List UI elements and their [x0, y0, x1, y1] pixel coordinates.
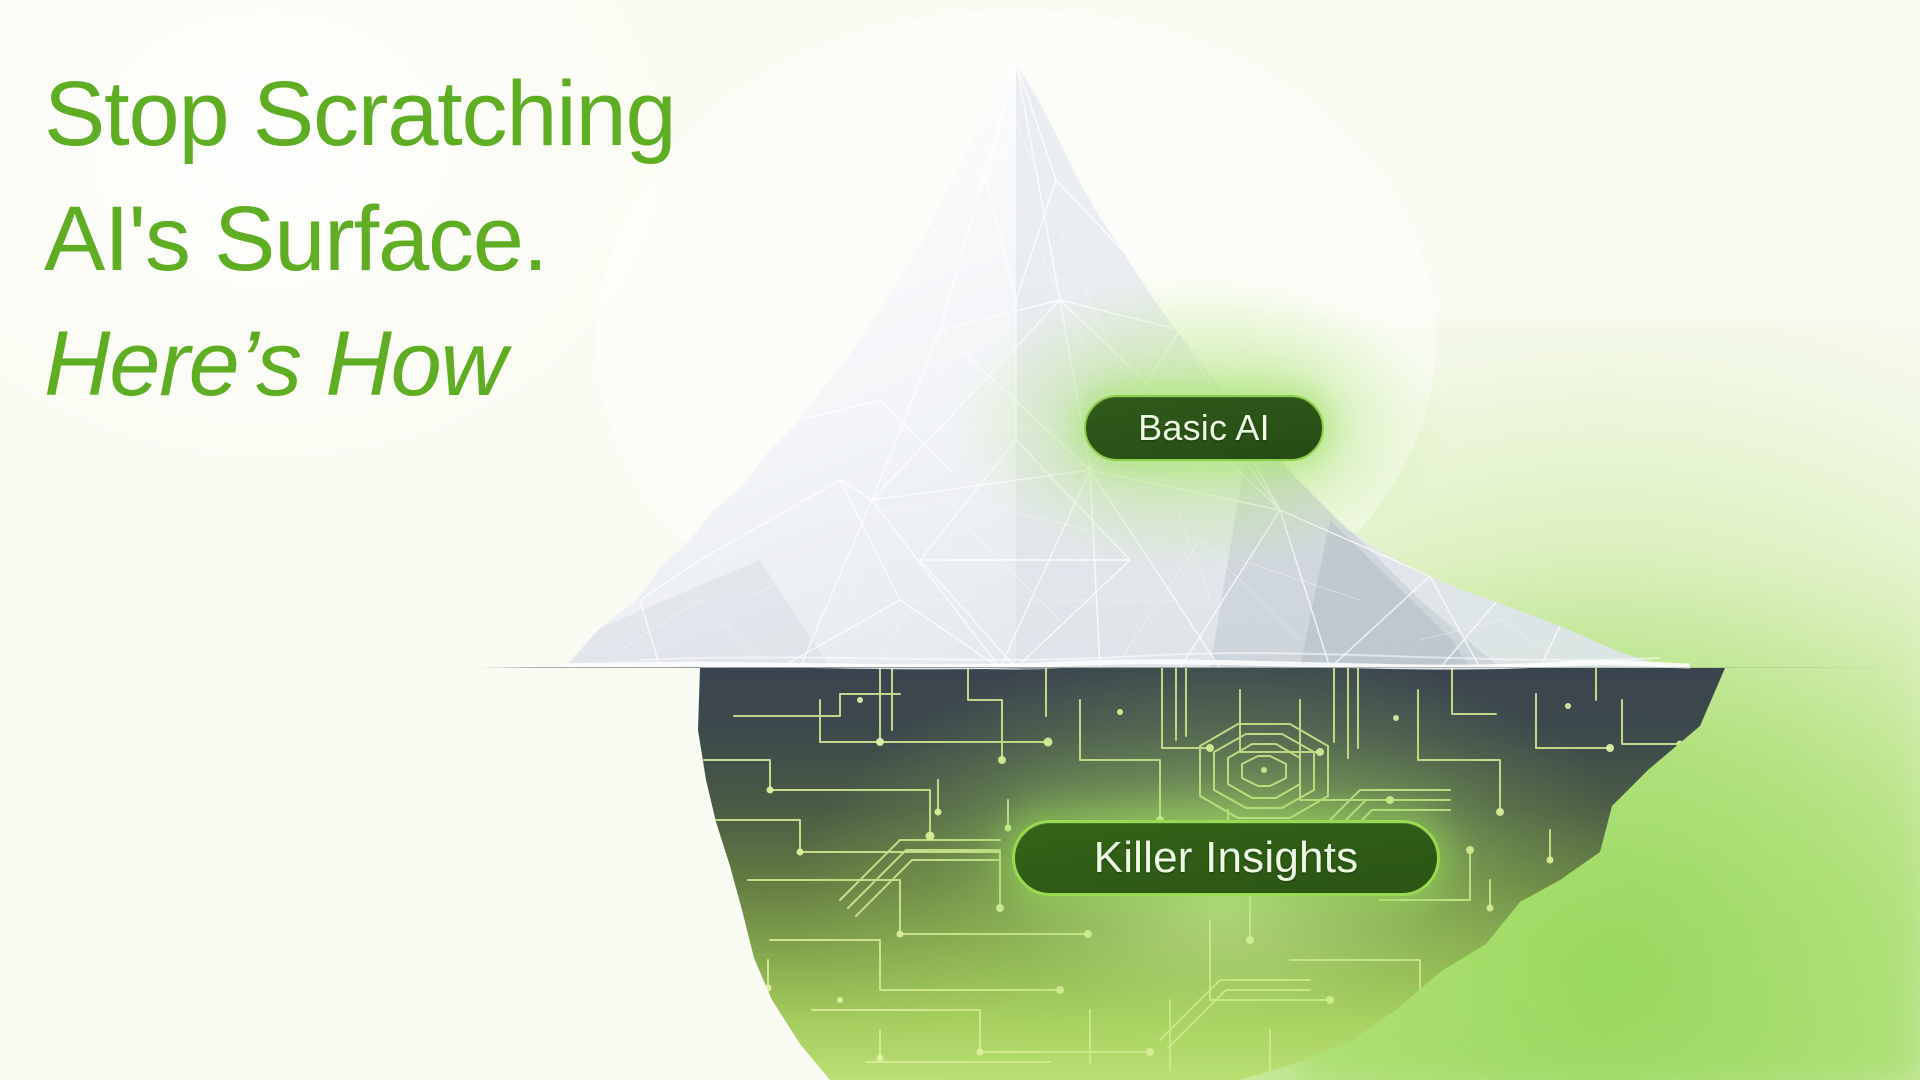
badge-basic-ai-label: Basic AI: [1138, 407, 1270, 449]
badge-killer-insights[interactable]: Killer Insights: [1012, 820, 1440, 896]
waterline-rule: [478, 667, 1920, 668]
badge-killer-insights-label: Killer Insights: [1094, 833, 1359, 883]
hero-banner: Stop Scratching AI's Surface. Here’s How…: [0, 0, 1920, 1080]
headline-line-1: Stop Scratching: [44, 52, 864, 177]
page-title: Stop Scratching AI's Surface. Here’s How: [44, 52, 864, 427]
badge-basic-ai[interactable]: Basic AI: [1084, 395, 1324, 461]
headline-line-2: AI's Surface.: [44, 177, 864, 302]
headline-line-3: Here’s How: [44, 302, 864, 427]
